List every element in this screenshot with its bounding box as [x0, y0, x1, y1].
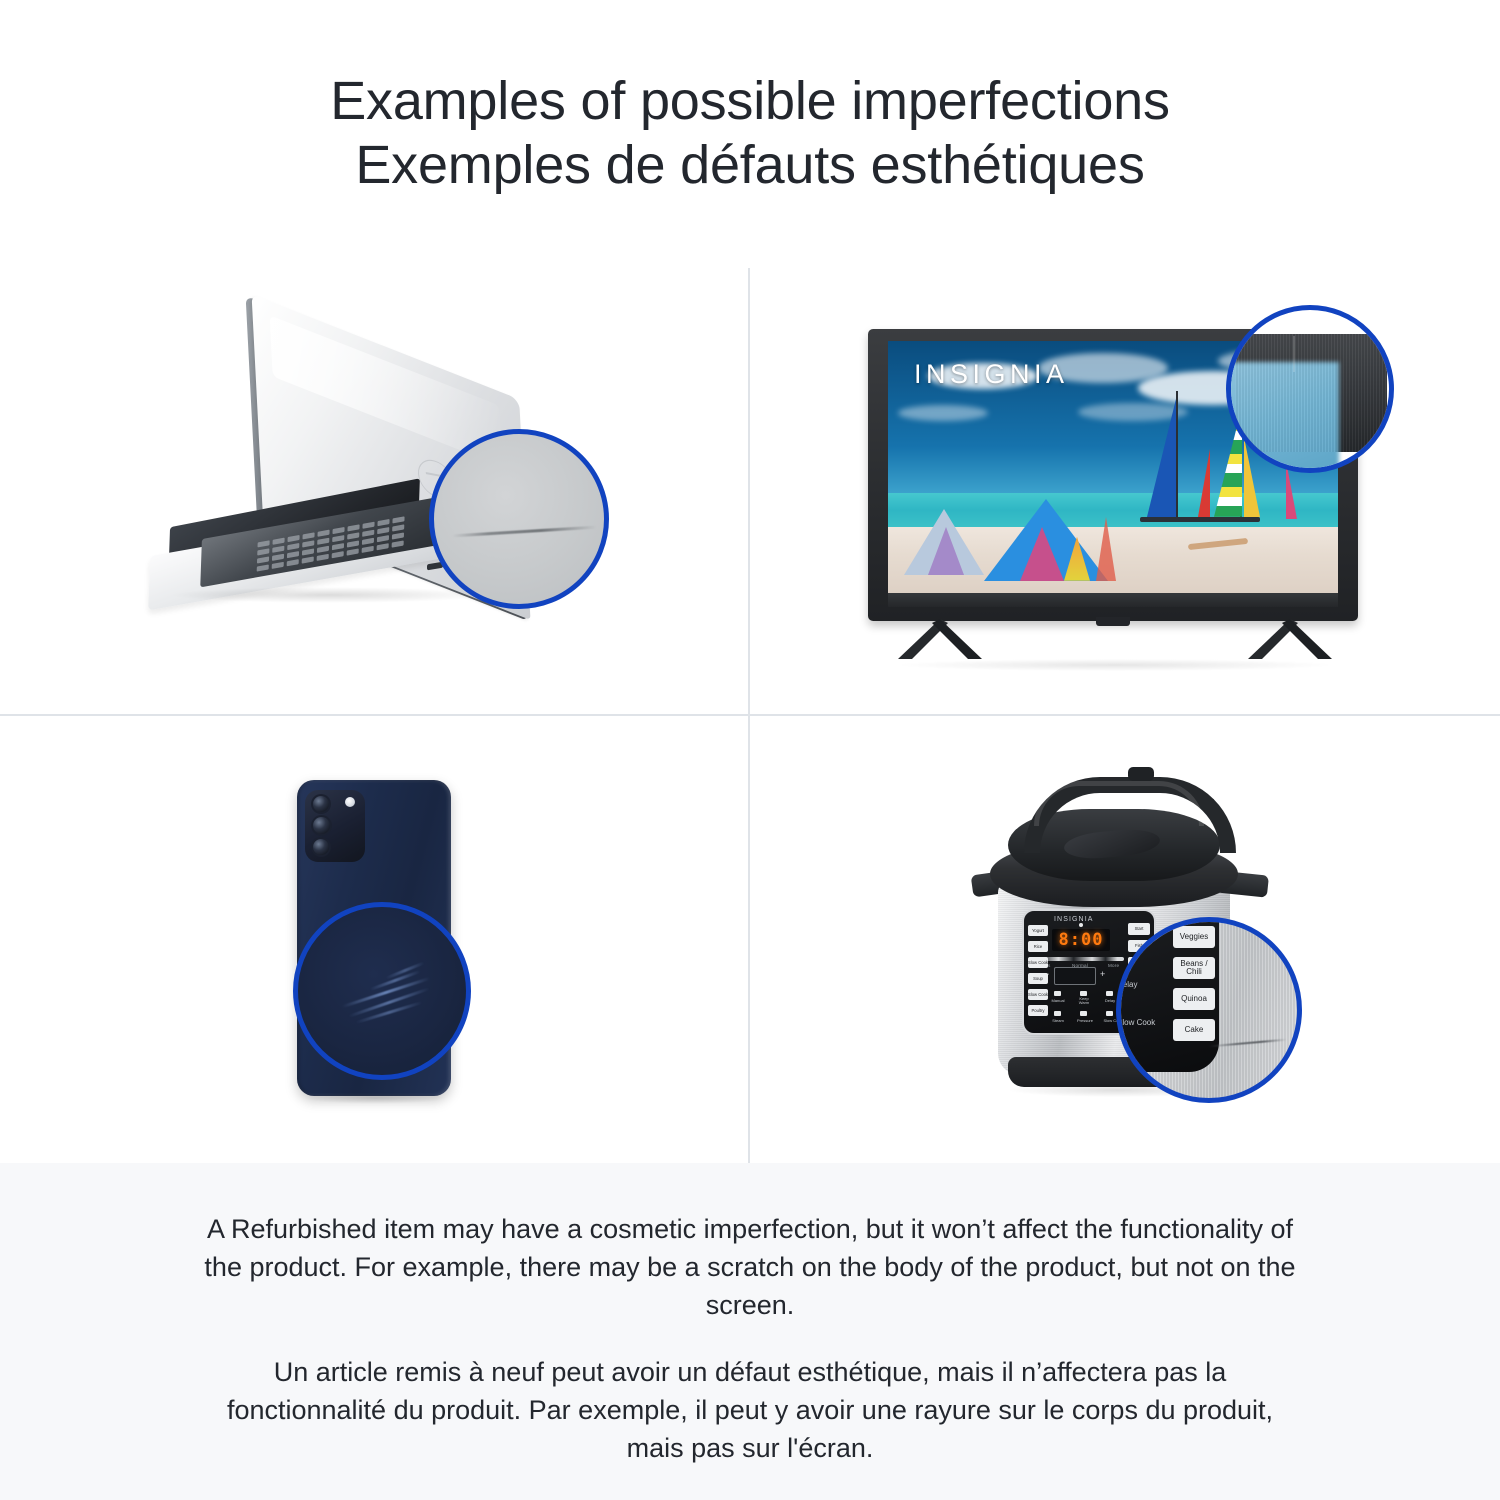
magnifier-tv-corner: [1226, 305, 1394, 473]
description-paragraph-fr: Un article remis à neuf peut avoir un dé…: [200, 1354, 1300, 1467]
cooker-button[interactable]: Soup: [1028, 973, 1048, 984]
camera-flash-icon: [345, 797, 355, 807]
cooker-zoom-button-beans-chili[interactable]: Beans / Chili: [1173, 957, 1215, 979]
cooker-mini-display: [1054, 967, 1096, 985]
tv-foot-left: [896, 619, 986, 663]
cloud: [898, 405, 988, 421]
cooker-zoom-button-quinoa[interactable]: Quinoa: [1173, 988, 1215, 1010]
cooker-status-led: [1079, 923, 1083, 927]
cooker-small-label: Steam: [1048, 1019, 1068, 1023]
cooker-small-label: Pressure: [1074, 1019, 1096, 1023]
camera-lens: [313, 817, 330, 834]
page-title-en: Examples of possible imperfections: [330, 70, 1170, 134]
mast: [1176, 391, 1178, 521]
cell-tv: INSIGNIA: [750, 268, 1500, 716]
cooker-button[interactable]: Slow Cook: [1028, 989, 1048, 1000]
cooker-zoom-side-label: Slow Cook: [1117, 1018, 1155, 1027]
beach-tent-purple: [928, 527, 964, 575]
laptop-shadow: [169, 587, 489, 603]
cooker-button[interactable]: Rice: [1028, 941, 1048, 952]
cell-phone: [0, 716, 750, 1164]
phone-illustration: [259, 774, 489, 1104]
cooker-steam-valve: [1128, 767, 1154, 781]
camera-lens: [313, 839, 329, 855]
page-header: Examples of possible imperfections Exemp…: [0, 0, 1500, 268]
cooker-button[interactable]: Poultry: [1028, 1005, 1048, 1016]
cooker-zoom-button-veggies[interactable]: Veggies: [1173, 926, 1215, 948]
magnifier-cooker-scratch: Delay Slow Cook Veggies Beans / Chili Qu…: [1116, 917, 1302, 1103]
cooker-small-button[interactable]: [1054, 991, 1061, 996]
tv-ir-sensor: [1096, 617, 1130, 626]
cooker-zoom-button-cake[interactable]: Cake: [1173, 1019, 1215, 1041]
cell-pressure-cooker: INSIGNIA 8:00 Less Normal More − + Yogur…: [750, 716, 1500, 1164]
cooker-zoom-side-label: Delay: [1117, 980, 1137, 989]
laptop-scratch-mark: [452, 525, 597, 537]
tv-shadow: [900, 659, 1330, 671]
phone-shadow: [303, 1092, 447, 1104]
cooker-handle-highlight: [1034, 781, 1204, 826]
beach-tent-red: [1096, 517, 1116, 581]
plus-icon[interactable]: +: [1100, 969, 1105, 979]
sail-red: [1198, 449, 1210, 517]
cooker-small-button[interactable]: [1106, 1011, 1113, 1016]
hull: [1140, 517, 1260, 522]
cooker-small-label: Manual: [1048, 999, 1068, 1003]
pressure-cooker-illustration: INSIGNIA 8:00 Less Normal More − + Yogur…: [960, 769, 1290, 1109]
cooker-zoom-button-column[interactable]: Veggies Beans / Chili Quinoa Cake: [1173, 926, 1215, 1041]
cooker-left-button-column[interactable]: Yogurt Rice Slow Cook Soup Slow Cook Pou…: [1028, 925, 1048, 1016]
cooker-button[interactable]: Yogurt: [1028, 925, 1048, 936]
cooker-small-button[interactable]: [1106, 991, 1113, 996]
cooker-display-value: 8:00: [1059, 930, 1104, 950]
description-paragraph-en: A Refurbished item may have a cosmetic i…: [200, 1211, 1300, 1324]
refurbished-imperfections-infographic: Examples of possible imperfections Exemp…: [0, 0, 1500, 1500]
cooker-small-button[interactable]: [1080, 1011, 1087, 1016]
cell-laptop: [0, 268, 750, 716]
phone-camera-module: [305, 790, 365, 862]
tv-bezel-seam: [1293, 336, 1295, 372]
tv-illustration: INSIGNIA: [860, 307, 1390, 675]
cooker-brand-logo: INSIGNIA: [1054, 916, 1094, 923]
cooker-small-button[interactable]: [1054, 1011, 1061, 1016]
tv-bezel-texture: [1235, 334, 1387, 452]
cooker-display: 8:00: [1052, 929, 1110, 951]
phone-scratch-mark: [355, 1001, 423, 1024]
cooker-small-label: Keep Warm: [1074, 997, 1094, 1005]
footer-description-panel: A Refurbished item may have a cosmetic i…: [0, 1163, 1500, 1500]
beach-tent-pink: [1020, 527, 1064, 581]
product-examples-grid: INSIGNIA: [0, 268, 1500, 1163]
sail-blue: [1146, 399, 1176, 521]
camera-lens: [313, 796, 329, 812]
magnifier-phone-scratches: [293, 902, 471, 1080]
cooker-button[interactable]: Slow Cook: [1028, 957, 1048, 968]
laptop-illustration: [139, 341, 609, 641]
tv-foot-right: [1246, 619, 1336, 663]
page-title-fr: Exemples de défauts esthétiques: [355, 134, 1144, 198]
tv-bottom-bezel: [888, 593, 1338, 607]
magnifier-laptop-scratch: [429, 429, 609, 609]
cooker-pressure-scale: [1040, 957, 1124, 961]
scale-label-more: More: [1108, 963, 1119, 968]
tv-brand-logo: INSIGNIA: [914, 359, 1069, 390]
